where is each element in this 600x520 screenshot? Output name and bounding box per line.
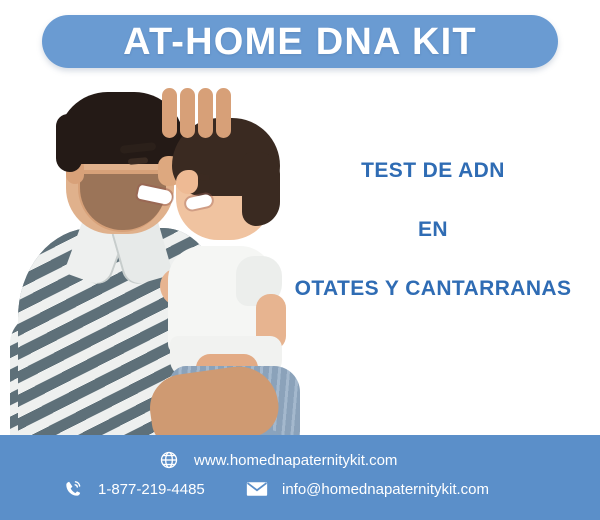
- child-hair-side: [242, 152, 280, 226]
- copy-line-location: OTATES Y CANTARRANAS: [276, 278, 590, 299]
- man-finger: [162, 88, 177, 138]
- phone-number: 1-877-219-4485: [98, 482, 205, 497]
- page-title: AT-HOME DNA KIT: [123, 23, 477, 61]
- contact-footer: www.homednapaternitykit.com 1-877-219-44…: [0, 435, 600, 520]
- website-url: www.homednapaternitykit.com: [194, 453, 397, 468]
- header-banner: AT-HOME DNA KIT: [42, 15, 558, 68]
- footer-website[interactable]: www.homednapaternitykit.com: [158, 449, 397, 471]
- email-address: info@homednapaternitykit.com: [282, 482, 489, 497]
- promo-copy-block: TEST DE ADN EN OTATES Y CANTARRANAS: [276, 160, 590, 299]
- copy-line-preposition: EN: [276, 219, 590, 240]
- copy-line-service: TEST DE ADN: [276, 160, 590, 181]
- globe-icon: [158, 449, 180, 471]
- man-finger: [216, 88, 231, 138]
- poster-canvas: AT-HOME DNA KIT: [0, 0, 600, 520]
- man-finger: [180, 88, 195, 138]
- father-holding-child-photo: [0, 78, 320, 440]
- child-nose: [176, 170, 198, 194]
- phone-icon: [62, 478, 84, 500]
- footer-email[interactable]: info@homednapaternitykit.com: [246, 478, 489, 500]
- footer-phone[interactable]: 1-877-219-4485: [62, 478, 205, 500]
- man-finger: [198, 88, 213, 138]
- envelope-icon: [246, 478, 268, 500]
- man-sideburn: [56, 114, 82, 172]
